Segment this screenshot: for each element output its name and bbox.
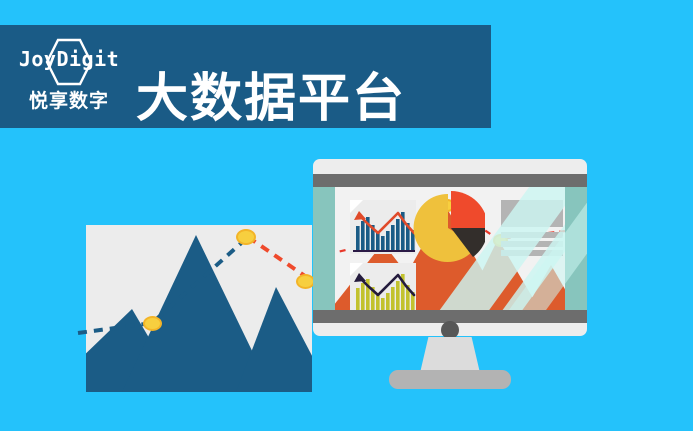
brand-logo: JoyDigit 悦享数字 bbox=[14, 33, 124, 121]
monitor-power-knob[interactable] bbox=[441, 321, 459, 339]
logo-wordmark: JoyDigit bbox=[14, 49, 124, 69]
header-banner: JoyDigit 悦享数字 大数据平台 bbox=[0, 25, 491, 128]
trend-node-left-2 bbox=[236, 229, 256, 245]
monitor-screen bbox=[313, 187, 587, 310]
monitor-top-bezel bbox=[313, 174, 587, 187]
bar-line-card-olive[interactable] bbox=[350, 263, 416, 310]
left-mountain-panel bbox=[86, 225, 312, 392]
blue-bar-chart bbox=[350, 200, 416, 254]
page-title: 大数据平台 bbox=[136, 71, 406, 127]
left-mountain-shape bbox=[86, 225, 312, 392]
trend-node-left-1 bbox=[143, 316, 162, 331]
logo-subtitle: 悦享数字 bbox=[14, 91, 124, 113]
poster-canvas: JoyDigit 悦享数字 大数据平台 bbox=[0, 0, 693, 431]
pie-chart-widget[interactable] bbox=[411, 191, 485, 265]
bar-line-card-blue[interactable] bbox=[350, 200, 416, 254]
monitor-stand-base bbox=[389, 370, 511, 389]
monitor-stand-neck bbox=[420, 337, 480, 373]
olive-bar-chart bbox=[350, 263, 416, 310]
